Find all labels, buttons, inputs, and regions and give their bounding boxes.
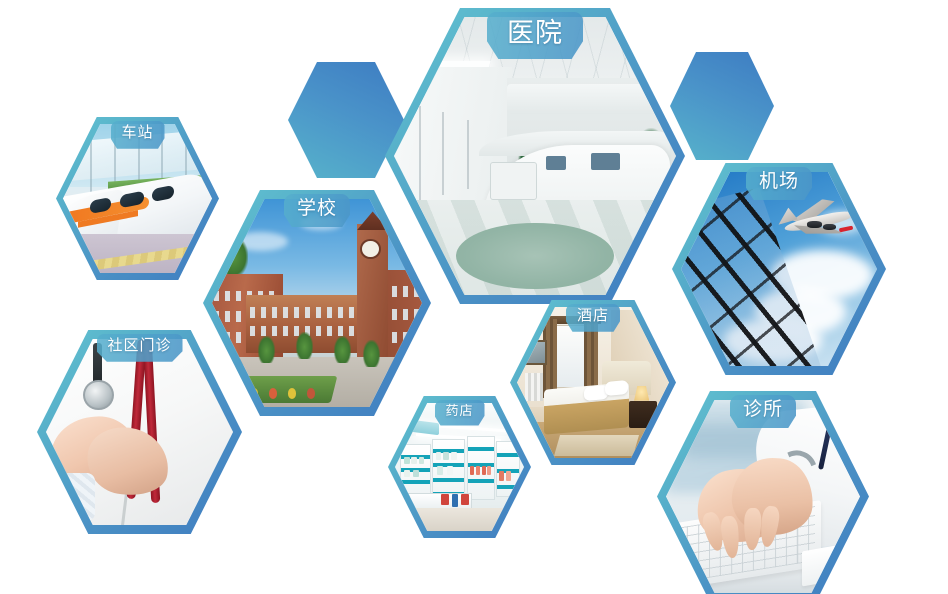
hexagon-pharmacy[interactable]: 药店 bbox=[388, 396, 531, 538]
hexagon-airport-inner bbox=[681, 172, 877, 366]
airport-photo bbox=[681, 172, 877, 366]
scene-hospital-corridor bbox=[394, 17, 676, 295]
hexagon-clinic[interactable]: 诊所 bbox=[657, 391, 869, 594]
airplane-icon bbox=[771, 199, 861, 249]
scene-pharmacy-shelves bbox=[395, 403, 524, 531]
station-photo bbox=[63, 124, 212, 273]
decorative-hexagon-left bbox=[288, 62, 404, 178]
hospital-photo bbox=[394, 17, 676, 295]
hexagon-airport[interactable]: 机场 bbox=[672, 163, 886, 375]
scene-train-station bbox=[63, 124, 212, 273]
clinic-photo bbox=[666, 400, 860, 593]
scene-hotel-room bbox=[517, 307, 669, 458]
hexagon-hotel[interactable]: 酒店 bbox=[510, 300, 676, 465]
hotel-photo bbox=[517, 307, 669, 458]
hexagon-hospital[interactable]: 医院 bbox=[385, 8, 685, 304]
school-photo bbox=[212, 199, 422, 407]
hexagon-school-inner bbox=[212, 199, 422, 407]
hexagon-community-clinic-inner bbox=[46, 339, 233, 525]
hexagon-hospital-inner bbox=[394, 17, 676, 295]
hexagon-scenario-diagram: 车站 bbox=[0, 0, 948, 594]
hexagon-community-clinic[interactable]: 社区门诊 bbox=[37, 330, 242, 534]
pharmacy-photo bbox=[395, 403, 524, 531]
hexagon-station-inner bbox=[63, 124, 212, 273]
hexagon-pharmacy-inner bbox=[395, 403, 524, 531]
hexagon-hotel-inner bbox=[517, 307, 669, 458]
hexagon-clinic-inner bbox=[666, 400, 860, 593]
decorative-hexagon-right bbox=[670, 52, 774, 160]
scene-doctor-typing bbox=[666, 400, 860, 593]
scene-doctor-patient-hands bbox=[46, 339, 233, 525]
scene-airport-terminal bbox=[681, 172, 877, 366]
community-clinic-photo bbox=[46, 339, 233, 525]
hexagon-station[interactable]: 车站 bbox=[56, 117, 219, 280]
hexagon-school[interactable]: 学校 bbox=[203, 190, 431, 416]
scene-school-campus bbox=[212, 199, 422, 407]
